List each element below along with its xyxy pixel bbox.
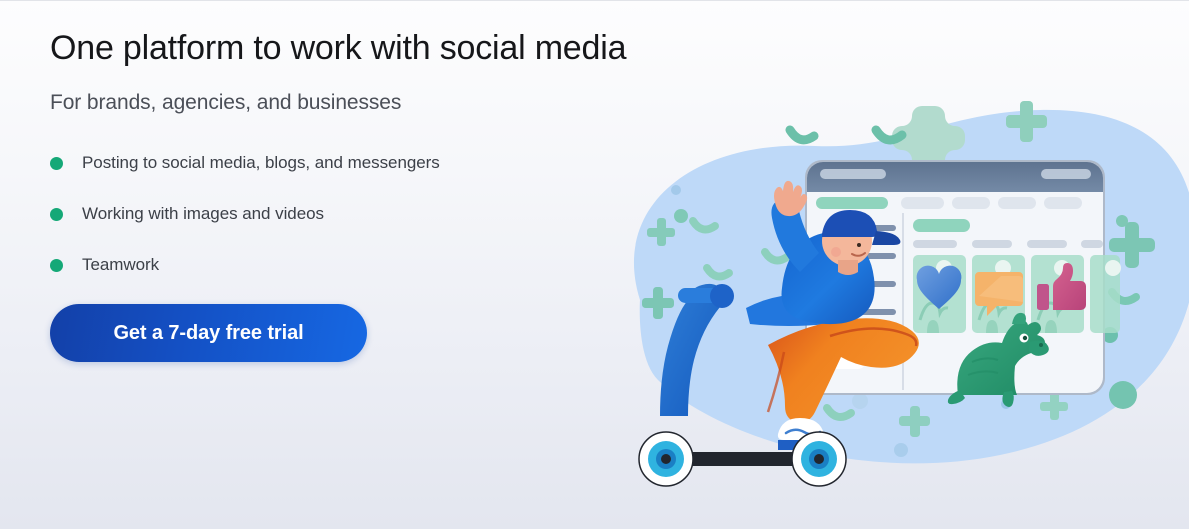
bullet-dot-icon xyxy=(50,259,63,272)
list-item: Teamwork xyxy=(50,253,640,277)
bullet-dot-icon xyxy=(50,157,63,170)
page-title: One platform to work with social media xyxy=(50,28,640,68)
benefits-list: Posting to social media, blogs, and mess… xyxy=(50,151,640,277)
benefit-label: Posting to social media, blogs, and mess… xyxy=(82,153,440,173)
list-item: Working with images and videos xyxy=(50,202,640,226)
list-item: Posting to social media, blogs, and mess… xyxy=(50,151,640,175)
illustration-svg xyxy=(600,0,1189,529)
free-trial-button[interactable]: Get a 7-day free trial xyxy=(50,304,367,362)
hero-copy: One platform to work with social media F… xyxy=(0,0,640,529)
hero-subheading: For brands, agencies, and businesses xyxy=(50,91,640,115)
hero-illustration xyxy=(600,0,1189,529)
bullet-dot-icon xyxy=(50,208,63,221)
benefit-label: Working with images and videos xyxy=(82,204,324,224)
benefit-label: Teamwork xyxy=(82,255,159,275)
